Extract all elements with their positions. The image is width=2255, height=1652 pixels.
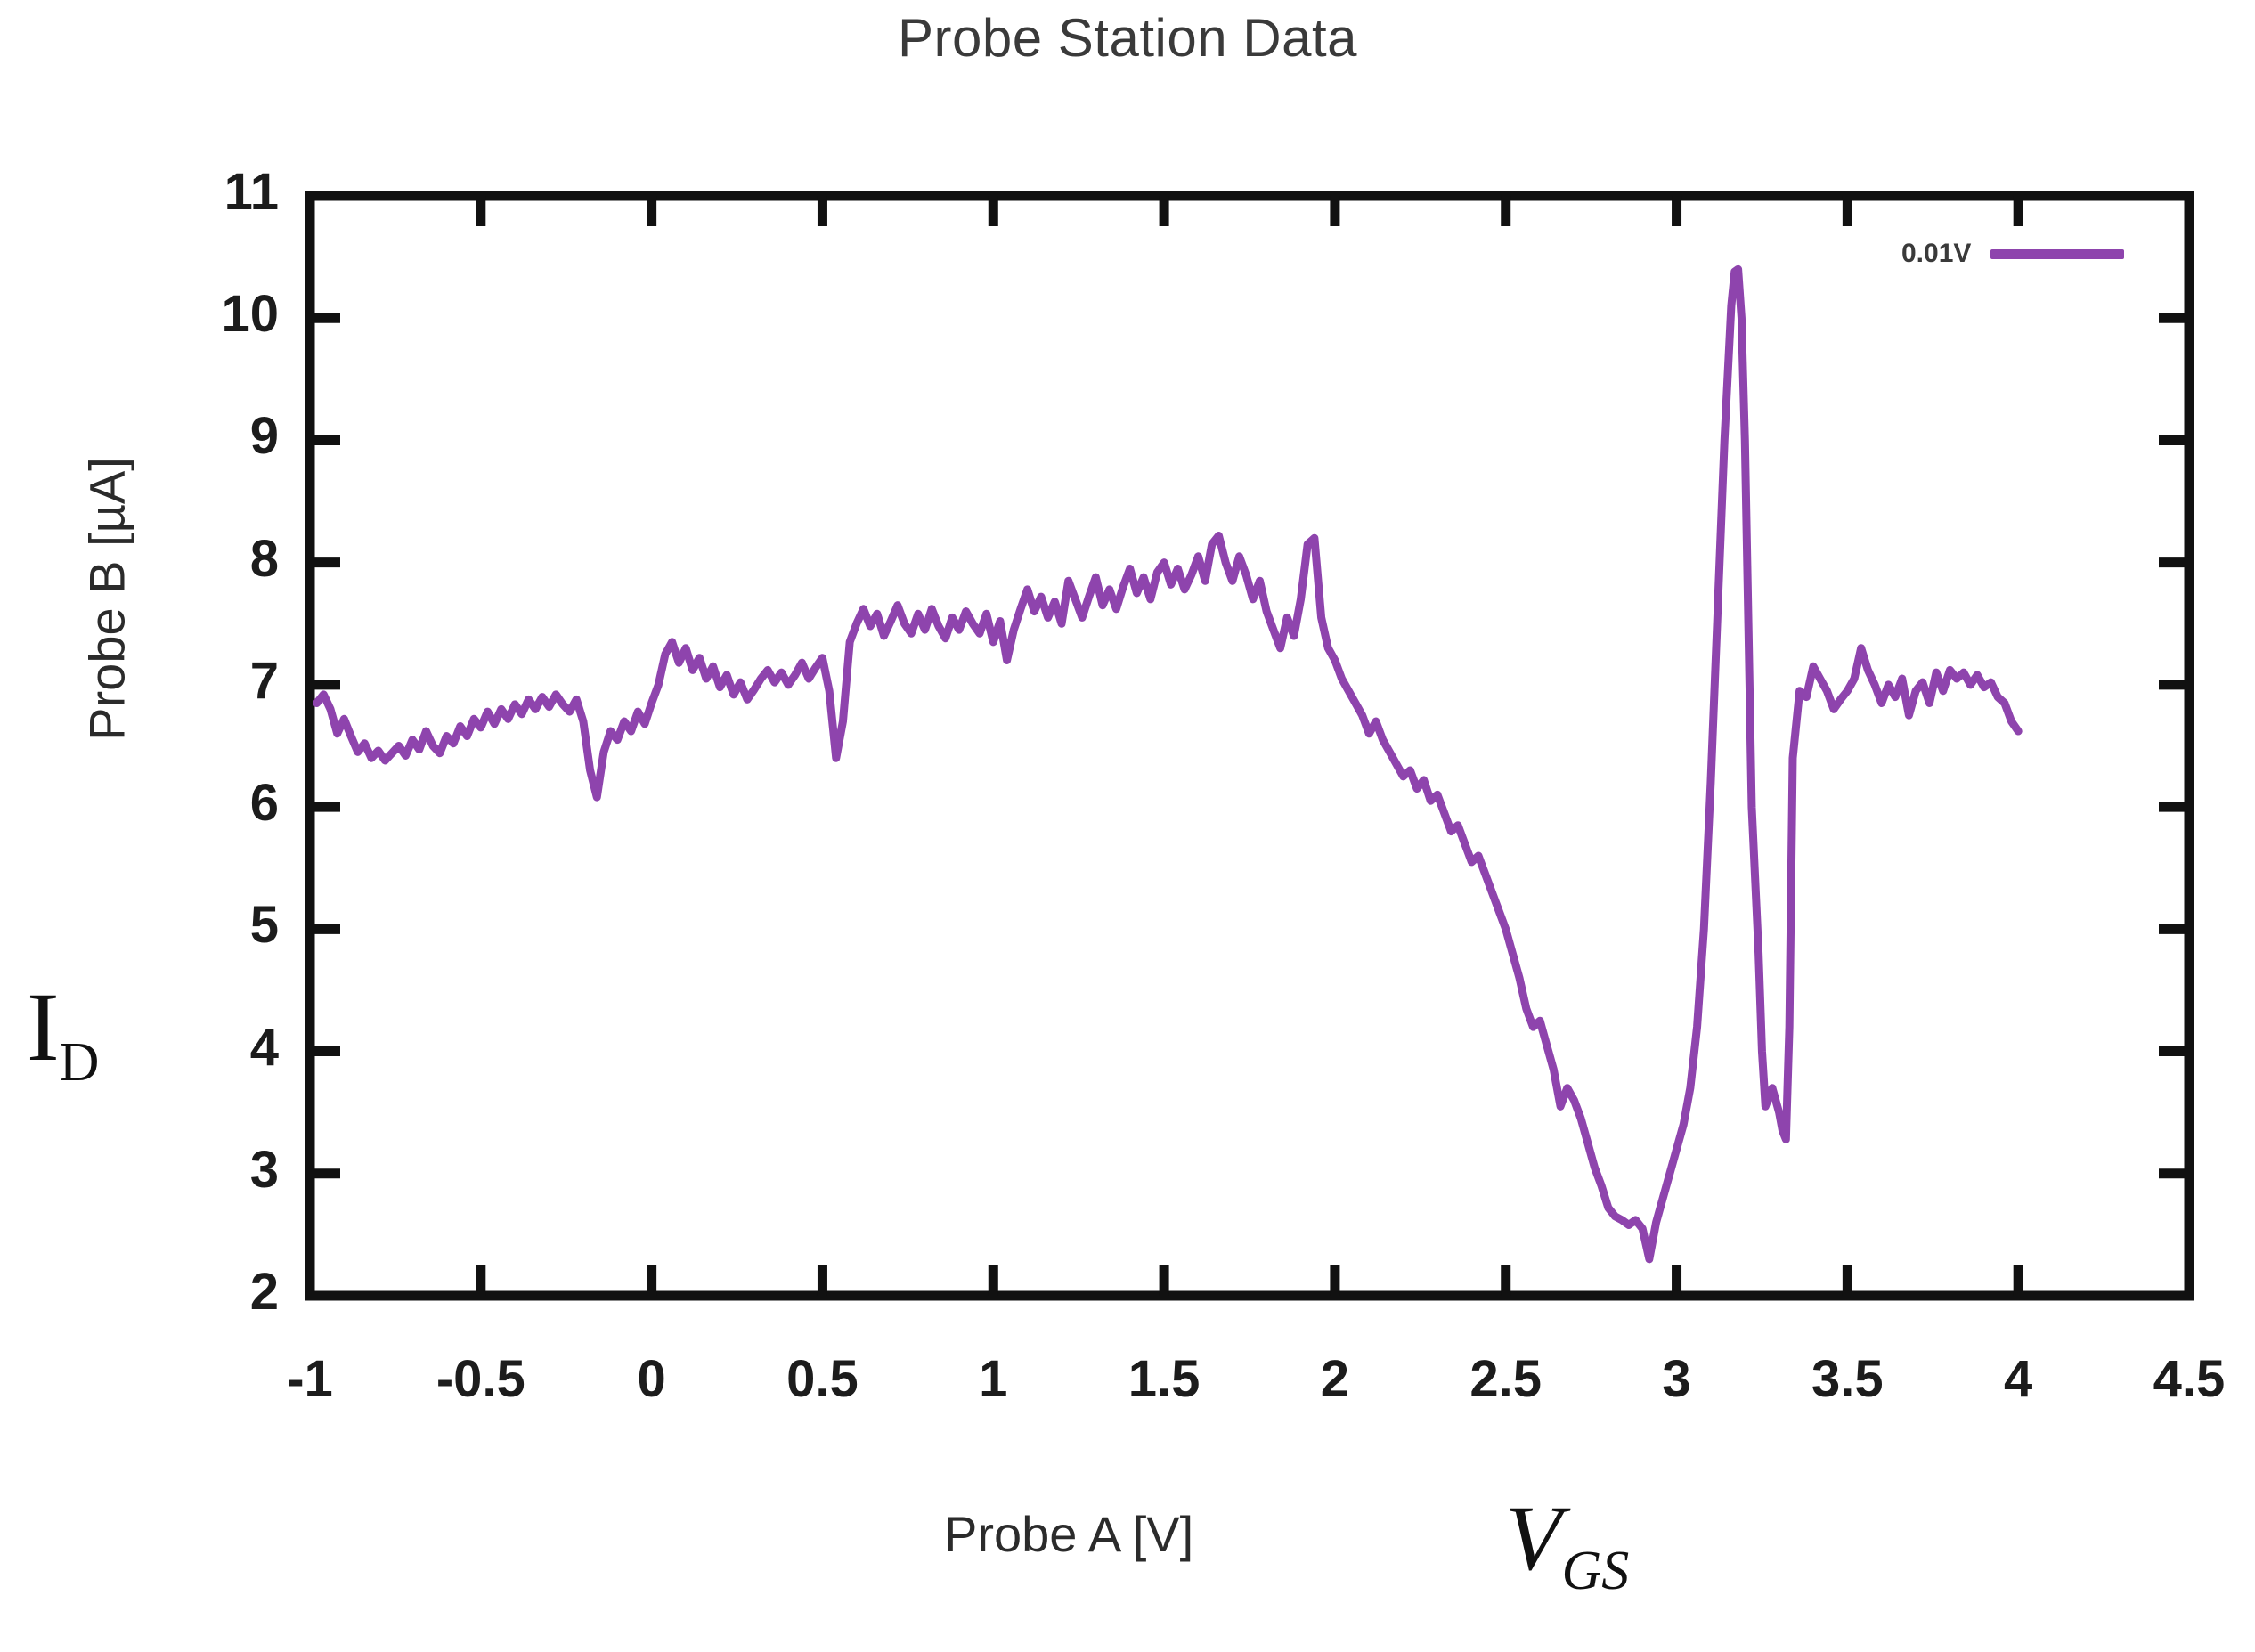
x-tick-label: 2 [1246,1349,1424,1409]
legend: 0.01V [1901,239,2124,269]
y-tick-label: 8 [145,529,279,589]
x-tick-label: 3 [1588,1349,1766,1409]
series-line-0 [317,269,2019,1259]
y-tick-label: 3 [145,1140,279,1200]
x-tick-label: 4 [1929,1349,2107,1409]
axis-frame [310,196,2189,1296]
y-tick-label: 9 [145,406,279,466]
y-tick-label: 10 [145,284,279,344]
y-axis-symbol-base: I [27,972,60,1081]
x-axis-symbol-subscript: GS [1562,1541,1630,1601]
x-tick-label: 3.5 [1758,1349,1936,1409]
y-tick-label: 2 [145,1262,279,1322]
y-axis-symbol-annotation: ID [27,971,99,1095]
x-tick-label: 0.5 [733,1349,911,1409]
x-tick-label: 1 [904,1349,1082,1409]
x-tick-label: 2.5 [1417,1349,1595,1409]
x-tick-label: 4.5 [2100,1349,2255,1409]
y-tick-label: 7 [145,651,279,711]
y-axis-title: Probe B [µA] [78,288,136,911]
data-series-group [317,269,2019,1259]
x-tick-label: -0.5 [392,1349,570,1409]
x-tick-label: 1.5 [1075,1349,1253,1409]
legend-label: 0.01V [1901,239,1971,269]
legend-color-swatch [1990,249,2124,259]
x-axis-symbol-annotation: VGS [1505,1485,1629,1603]
y-tick-label: 5 [145,895,279,955]
y-tick-label: 6 [145,773,279,833]
x-axis-symbol-base: V [1505,1487,1562,1590]
y-axis-symbol-subscript: D [60,1032,100,1093]
y-tick-label: 4 [145,1018,279,1078]
y-tick-label: 11 [145,162,279,222]
x-tick-label: -1 [221,1349,399,1409]
x-tick-label: 0 [563,1349,741,1409]
x-axis-title: Probe A [V] [944,1505,1193,1563]
tick-marks [310,196,2189,1296]
